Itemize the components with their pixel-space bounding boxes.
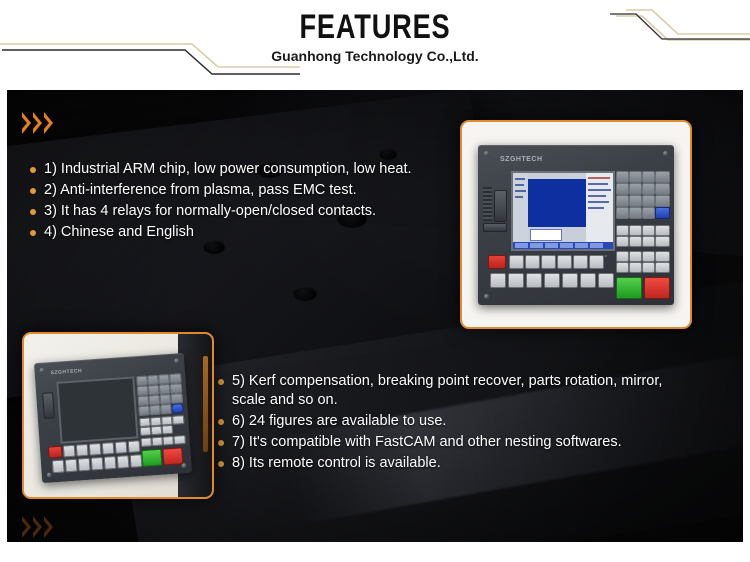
bullet-icon: [30, 209, 36, 215]
corner-screw-icon: [484, 151, 489, 156]
usb-slot: [494, 190, 507, 222]
menu-key-7[interactable]: [598, 273, 614, 288]
display-right-pane: [586, 173, 613, 249]
function-key-f5[interactable]: [573, 255, 588, 269]
function-key-f6[interactable]: [128, 440, 141, 453]
stop-button[interactable]: [644, 277, 670, 299]
function-key[interactable]: [172, 415, 185, 425]
keypad-key[interactable]: [170, 393, 183, 404]
menu-key-3[interactable]: [526, 273, 542, 288]
function-key[interactable]: [655, 236, 670, 247]
menu-key-2[interactable]: [508, 273, 524, 288]
feature-text: 3) It has 4 relays for normally-open/clo…: [44, 202, 376, 221]
arrow-key-left[interactable]: [616, 262, 629, 273]
keypad-key[interactable]: [138, 405, 150, 416]
start-button[interactable]: [141, 449, 162, 467]
feature-text: 6) 24 figures are available to use.: [232, 412, 446, 431]
feature-text: 2) Anti-interference from plasma, pass E…: [44, 181, 357, 200]
chevron-right-icon: [44, 516, 53, 538]
display-graphic-area: [528, 179, 586, 227]
start-button[interactable]: [616, 277, 642, 299]
corner-screw-icon: [484, 294, 489, 299]
feature-text: 4) Chinese and English: [44, 223, 194, 242]
menu-key-4[interactable]: [544, 273, 560, 288]
function-key-f1[interactable]: [509, 255, 524, 269]
bullet-icon: [218, 440, 224, 446]
vent-slots: [483, 187, 492, 221]
chevron-right-icon: [33, 516, 42, 538]
list-item: 5) Kerf compensation, breaking point rec…: [218, 372, 688, 410]
keypad-key[interactable]: [655, 195, 670, 207]
function-key-f3[interactable]: [541, 255, 556, 269]
list-item: 8) Its remote control is available.: [218, 454, 688, 473]
arrow-key-down[interactable]: [629, 262, 642, 273]
display-softkey-bar: [513, 242, 613, 249]
cnc-controller-front-photo: SZGHTECH: [462, 122, 690, 327]
list-item: 2) Anti-interference from plasma, pass E…: [30, 181, 450, 200]
function-key-f5[interactable]: [115, 441, 128, 454]
menu-key-1[interactable]: [490, 273, 506, 288]
reset-button[interactable]: [48, 446, 63, 459]
function-key[interactable]: [162, 425, 174, 435]
header-title-block: FEATURES Guanhong Technology Co.,Ltd.: [0, 8, 750, 65]
keypad-key[interactable]: [616, 171, 629, 183]
feature-text: 5) Kerf compensation, breaking point rec…: [232, 372, 688, 410]
controller-display: [511, 171, 615, 251]
chevron-right-icon: [22, 516, 31, 538]
function-key[interactable]: [629, 236, 642, 247]
function-key[interactable]: [140, 426, 152, 436]
keypad-key[interactable]: [642, 207, 655, 219]
chevron-arrows-bottom: [22, 516, 53, 538]
keypad-key[interactable]: [629, 207, 642, 219]
list-item: 7) It's compatible with FastCAM and othe…: [218, 433, 688, 452]
arrow-key-downright[interactable]: [642, 262, 655, 273]
controller-body: SZGHTECH: [34, 353, 192, 483]
arrow-key-upright[interactable]: [642, 251, 655, 262]
feature-text: 8) Its remote control is available.: [232, 454, 441, 473]
function-key[interactable]: [616, 225, 629, 236]
keypad-key[interactable]: [642, 171, 655, 183]
function-key[interactable]: [642, 225, 655, 236]
keypad-key[interactable]: [616, 207, 629, 219]
chevron-arrows-top: [22, 112, 53, 134]
function-key-f4[interactable]: [102, 442, 115, 455]
keypad-key[interactable]: [616, 195, 629, 207]
list-item: 1) Industrial ARM chip, low power consum…: [30, 160, 450, 179]
function-key[interactable]: [655, 225, 670, 236]
controller-body: SZGHTECH: [478, 145, 674, 305]
bullet-icon: [30, 188, 36, 194]
feature-text: 7) It's compatible with FastCAM and othe…: [232, 433, 622, 452]
keypad-key[interactable]: [655, 171, 670, 183]
arrow-key-right[interactable]: [655, 251, 670, 262]
function-key[interactable]: [642, 236, 655, 247]
function-key[interactable]: [151, 426, 163, 436]
photo-frame-bottom-left[interactable]: SZGHTECH: [22, 332, 214, 499]
arrow-key-right[interactable]: [162, 436, 174, 446]
stop-button[interactable]: [162, 447, 183, 465]
bullet-icon: [30, 230, 36, 236]
function-key-f2[interactable]: [525, 255, 540, 269]
keypad-key[interactable]: [655, 183, 670, 195]
photo-orange-highlight: [203, 356, 208, 452]
enter-key[interactable]: [655, 207, 670, 219]
function-key-f2[interactable]: [76, 444, 89, 457]
function-key-f6[interactable]: [589, 255, 604, 269]
arrow-key-extra[interactable]: [655, 262, 670, 273]
keypad-key[interactable]: [629, 195, 642, 207]
list-item: 3) It has 4 relays for normally-open/clo…: [30, 202, 450, 221]
feature-text: 1) Industrial ARM chip, low power consum…: [44, 160, 412, 179]
chevron-right-icon: [22, 112, 31, 134]
display-ui: [513, 173, 613, 249]
function-key[interactable]: [629, 225, 642, 236]
menu-key-6[interactable]: [117, 455, 130, 469]
function-key-f1[interactable]: [63, 445, 76, 458]
keypad-key[interactable]: [616, 183, 629, 195]
bullet-icon: [218, 419, 224, 425]
keypad-key[interactable]: [629, 171, 642, 183]
menu-key-1[interactable]: [52, 460, 65, 474]
corner-screw-icon: [39, 368, 44, 373]
menu-key-5[interactable]: [562, 273, 578, 288]
arrow-key-down[interactable]: [173, 435, 186, 445]
enter-key[interactable]: [171, 403, 184, 414]
list-item: 6) 24 figures are available to use.: [218, 412, 688, 431]
display-left-pane: [513, 173, 528, 249]
bullet-icon: [30, 167, 36, 173]
bullet-icon: [218, 461, 224, 467]
page-header: FEATURES Guanhong Technology Co.,Ltd.: [0, 0, 750, 90]
keypad-key[interactable]: [642, 195, 655, 207]
arrow-key-up[interactable]: [140, 437, 152, 447]
menu-key-6[interactable]: [580, 273, 596, 288]
arrow-key-upleft[interactable]: [616, 251, 629, 262]
brand-logo: SZGHTECH: [51, 368, 83, 376]
function-key[interactable]: [616, 236, 629, 247]
function-key-f4[interactable]: [557, 255, 572, 269]
port-connector: [483, 223, 507, 232]
keypad-key[interactable]: [160, 404, 172, 415]
menu-key-7[interactable]: [130, 454, 143, 468]
display-coordinate-box: [530, 229, 562, 241]
chevron-right-icon: [33, 112, 42, 134]
keypad-key[interactable]: [629, 183, 642, 195]
bullet-icon: [218, 379, 224, 385]
company-subtitle: Guanhong Technology Co.,Ltd.: [0, 47, 750, 65]
corner-screw-icon: [47, 472, 52, 477]
menu-key-3[interactable]: [78, 458, 91, 472]
feature-list-top: 1) Industrial ARM chip, low power consum…: [30, 160, 450, 244]
menu-key-2[interactable]: [65, 459, 78, 473]
reset-button[interactable]: [488, 255, 506, 269]
brand-logo: SZGHTECH: [500, 156, 543, 163]
list-item: 4) Chinese and English: [30, 223, 450, 242]
menu-key-4[interactable]: [91, 457, 104, 471]
feature-list-bottom: 5) Kerf compensation, breaking point rec…: [218, 372, 688, 475]
arrow-key-up[interactable]: [629, 251, 642, 262]
menu-key-5[interactable]: [104, 456, 117, 470]
corner-screw-icon: [663, 151, 668, 156]
corner-screw-icon: [174, 358, 179, 363]
photo-frame-top-right[interactable]: SZGHTECH: [460, 120, 692, 329]
usb-slot: [42, 392, 55, 419]
cnc-controller-angled-photo: SZGHTECH: [24, 334, 212, 497]
keypad-key[interactable]: [149, 405, 161, 416]
page-title: FEATURES: [75, 8, 675, 46]
function-key-f3[interactable]: [89, 443, 102, 456]
keypad-key[interactable]: [642, 183, 655, 195]
arrow-key-left[interactable]: [151, 437, 163, 447]
controller-display: [56, 376, 138, 443]
chevron-right-icon: [44, 112, 53, 134]
spacer: [605, 255, 607, 257]
